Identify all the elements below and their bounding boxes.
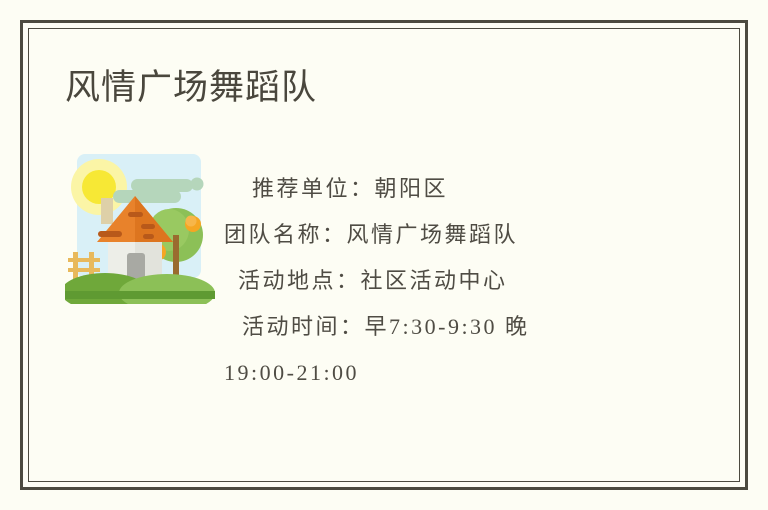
detail-line-activity-time-cont: 19:00-21:00 — [224, 350, 644, 396]
detail-line-team-name: 团队名称：风情广场舞蹈队 — [224, 212, 644, 258]
countryside-house-illustration — [65, 152, 215, 304]
card-body: 推荐单位：朝阳区 团队名称：风情广场舞蹈队 活动地点：社区活动中心 活动时间：早… — [29, 144, 739, 481]
detail-line-activity-location: 活动地点：社区活动中心 — [224, 258, 644, 304]
detail-line-recommending-unit: 推荐单位：朝阳区 — [224, 166, 644, 212]
info-card-inner-border: 风情广场舞蹈队 — [28, 28, 740, 482]
detail-line-activity-time: 活动时间：早7:30-9:30 晚 — [224, 304, 644, 350]
team-details-list: 推荐单位：朝阳区 团队名称：风情广场舞蹈队 活动地点：社区活动中心 活动时间：早… — [224, 166, 644, 396]
info-card: 风情广场舞蹈队 — [20, 20, 748, 490]
page-title: 风情广场舞蹈队 — [65, 69, 317, 108]
